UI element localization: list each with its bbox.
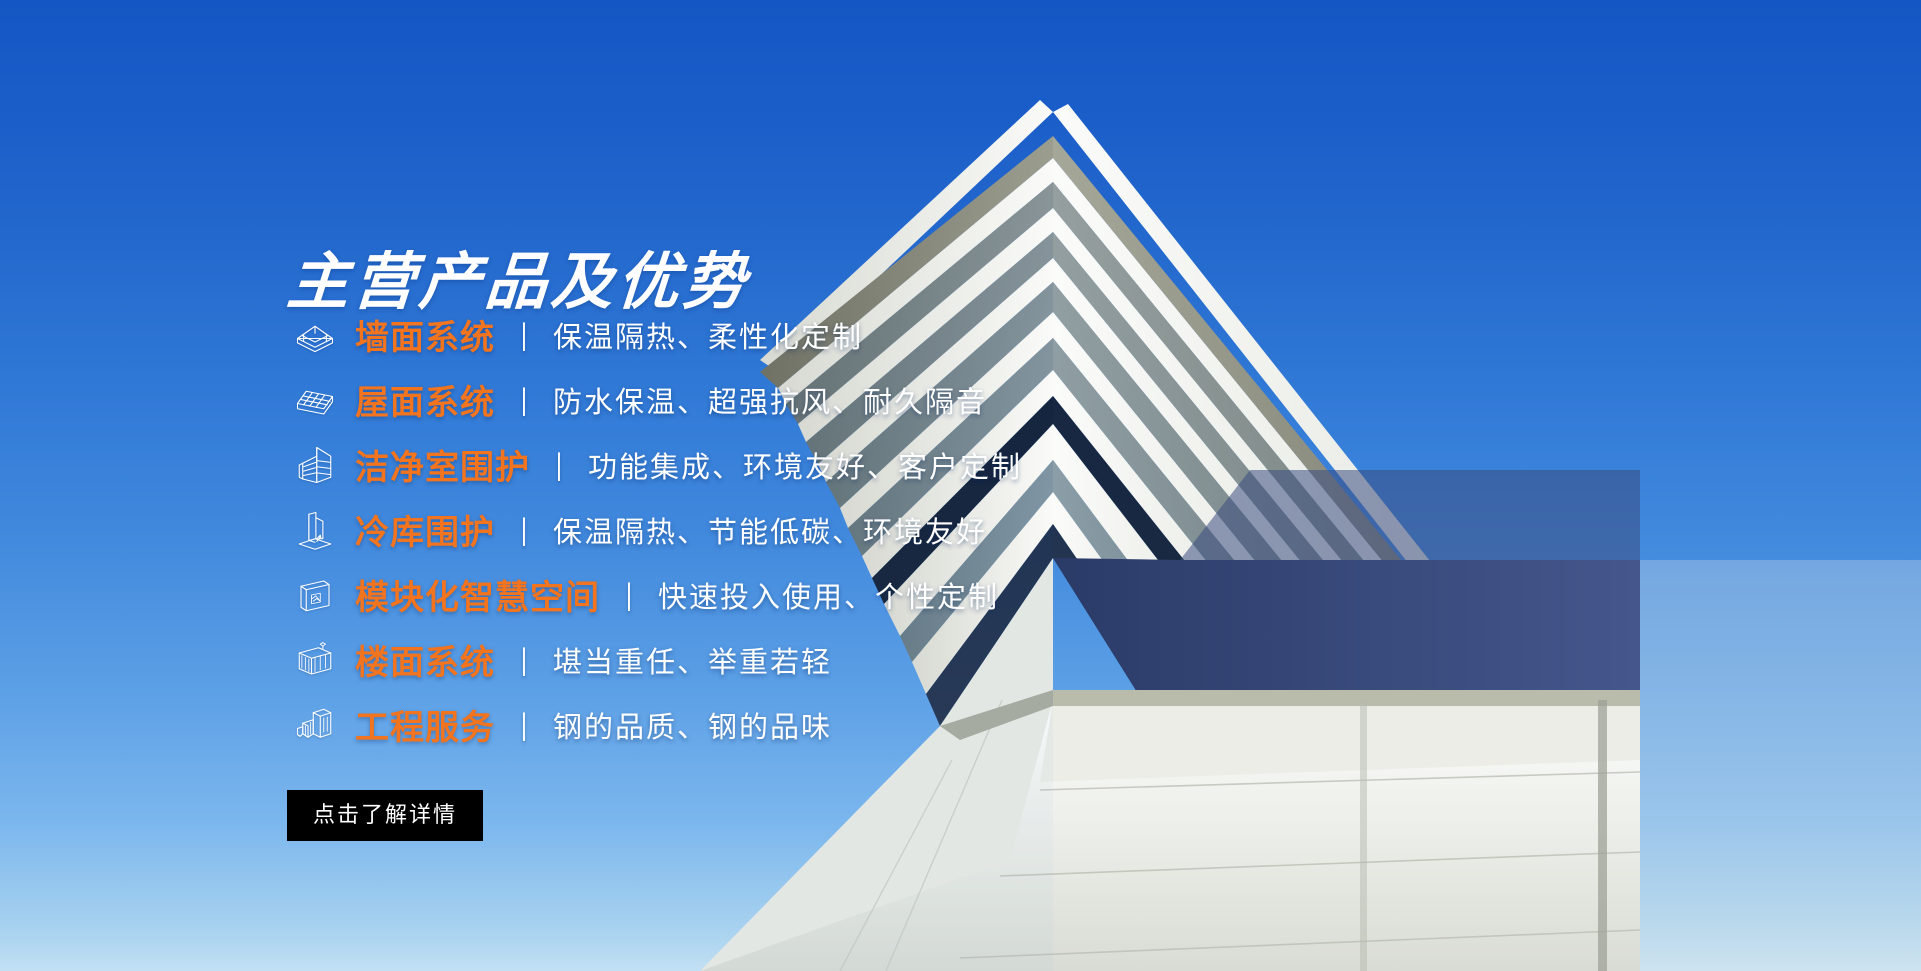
roof-panel-icon — [287, 377, 343, 423]
list-item[interactable]: 洁净室围护 丨 功能集成、环境友好、客户定制 — [287, 432, 1337, 497]
feature-separator: 丨 — [508, 703, 540, 747]
feature-description: 保温隔热、柔性化定制 — [553, 314, 863, 356]
feature-description: 快速投入使用、个性定制 — [658, 574, 999, 616]
floor-deck-icon — [287, 637, 343, 683]
feature-description: 防水保温、超强抗风、耐久隔音 — [553, 379, 987, 421]
list-item[interactable]: 模块化智慧空间 丨 快速投入使用、个性定制 — [287, 562, 1337, 627]
engineering-service-icon — [287, 702, 343, 748]
cleanroom-building-icon — [287, 442, 343, 488]
product-advantages-banner: 主营产品及优势 墙面系统 丨 保温隔热、柔性化定制 — [0, 0, 1921, 971]
feature-description: 保温隔热、节能低碳、环境友好 — [553, 509, 987, 551]
list-item[interactable]: 屋面系统 丨 防水保温、超强抗风、耐久隔音 — [287, 367, 1337, 432]
feature-name: 楼面系统 — [355, 635, 495, 684]
feature-name: 墙面系统 — [355, 310, 495, 359]
list-item[interactable]: 墙面系统 丨 保温隔热、柔性化定制 — [287, 302, 1337, 367]
building-right-edge — [1640, 560, 1921, 971]
feature-name: 工程服务 — [355, 700, 495, 749]
feature-name: 冷库围护 — [355, 505, 495, 554]
feature-separator: 丨 — [508, 313, 540, 357]
list-item[interactable]: 冷库围护 丨 保温隔热、节能低碳、环境友好 — [287, 497, 1337, 562]
wall-panel-icon — [287, 312, 343, 358]
feature-name: 屋面系统 — [355, 375, 495, 424]
feature-list: 墙面系统 丨 保温隔热、柔性化定制 屋面系统 — [287, 302, 1337, 757]
list-item[interactable]: 工程服务 丨 钢的品质、钢的品味 — [287, 692, 1337, 757]
feature-description: 功能集成、环境友好、客户定制 — [588, 444, 1022, 486]
feature-name: 模块化智慧空间 — [355, 570, 600, 619]
feature-name: 洁净室围护 — [355, 440, 530, 489]
feature-separator: 丨 — [613, 573, 645, 617]
feature-separator: 丨 — [543, 443, 575, 487]
feature-separator: 丨 — [508, 638, 540, 682]
feature-separator: 丨 — [508, 378, 540, 422]
cold-storage-icon — [287, 507, 343, 553]
list-item[interactable]: 楼面系统 丨 堪当重任、举重若轻 — [287, 627, 1337, 692]
feature-description: 钢的品质、钢的品味 — [553, 704, 832, 746]
modular-cube-icon — [287, 572, 343, 618]
learn-more-button[interactable]: 点击了解详情 — [287, 790, 483, 841]
feature-description: 堪当重任、举重若轻 — [553, 639, 832, 681]
feature-separator: 丨 — [508, 508, 540, 552]
banner-content: 主营产品及优势 墙面系统 丨 保温隔热、柔性化定制 — [287, 0, 1387, 971]
